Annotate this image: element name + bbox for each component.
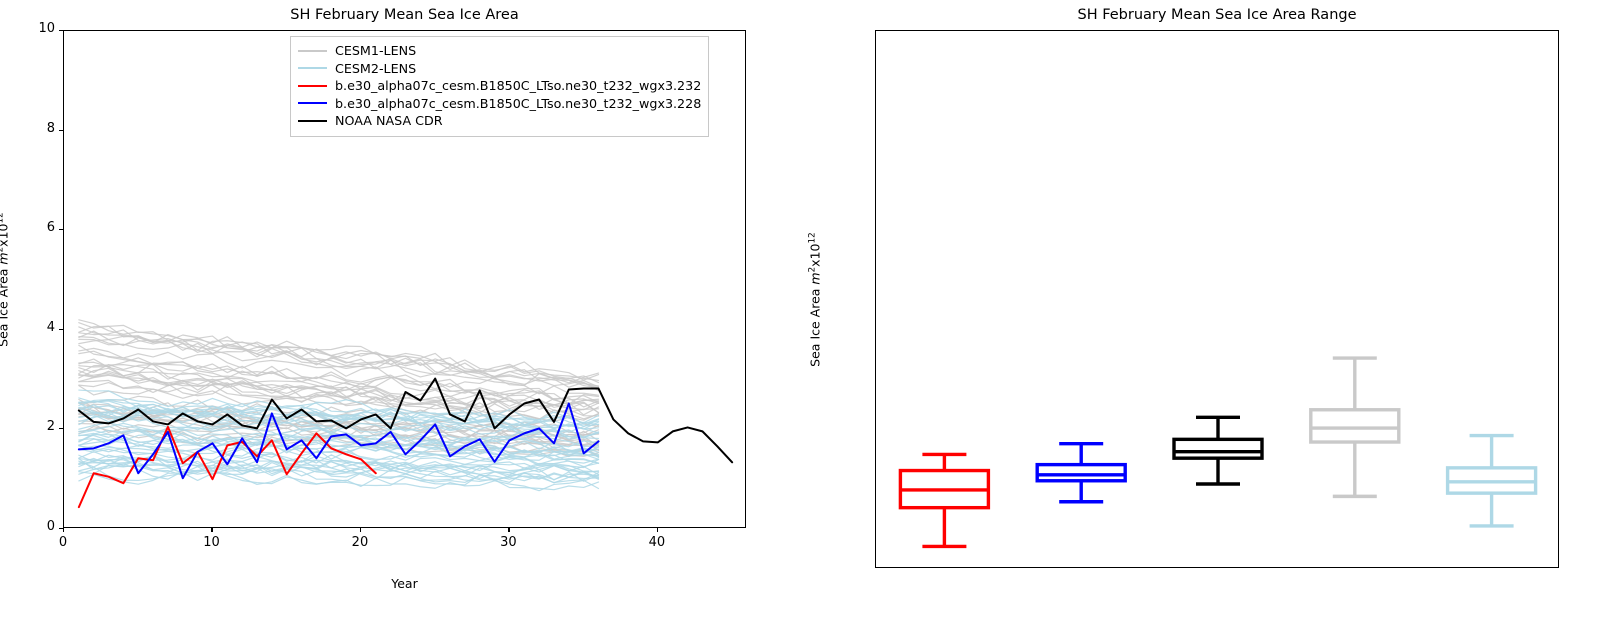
box-iqr — [1037, 465, 1125, 481]
y-axis-label-unit-m-right: m — [808, 272, 823, 284]
x-tick-mark — [63, 528, 64, 532]
panel-sea-ice-area-timeseries: SH February Mean Sea Ice Area 0246810 01… — [0, 0, 810, 622]
y-tick-label: 4 — [23, 320, 55, 335]
x-tick-mark — [657, 528, 658, 532]
legend-item-label: CESM2-LENS — [335, 60, 416, 78]
legend-item[interactable]: CESM1-LENS — [298, 42, 701, 60]
legend-color-swatch — [298, 67, 327, 69]
x-tick-mark — [508, 528, 509, 532]
legend-item[interactable]: b.e30_alpha07c_cesm.B1850C_LTso.ne30_t23… — [298, 95, 701, 113]
boxplot-2[interactable] — [1037, 444, 1125, 502]
boxplot-4[interactable] — [1311, 358, 1399, 496]
y-tick-label: 8 — [23, 121, 55, 136]
boxplot-plot — [876, 31, 1558, 567]
y-axis-label-left: Sea Ice Area m2x1012 — [0, 149, 11, 409]
figure-canvas: SH February Mean Sea Ice Area 0246810 01… — [0, 0, 1621, 622]
panel-sea-ice-area-range: SH February Mean Sea Ice Area Range 0246… — [811, 0, 1621, 622]
legend-item[interactable]: CESM2-LENS — [298, 60, 701, 78]
x-tick-label: 10 — [186, 535, 236, 550]
legend-item[interactable]: NOAA NASA CDR — [298, 112, 701, 130]
legend-color-swatch — [298, 85, 327, 87]
legend-color-swatch — [298, 50, 327, 52]
box-iqr — [1174, 439, 1262, 458]
x-tick-mark — [360, 528, 361, 532]
legend-color-swatch — [298, 120, 327, 122]
y-axis-label-unit-m: m — [0, 252, 11, 264]
legend-item-label: NOAA NASA CDR — [335, 112, 443, 130]
y-axis-label-right: Sea Ice Area m2x1012 — [807, 169, 822, 429]
ensemble-member — [79, 323, 599, 383]
y-axis-label-exp2-right: 12 — [807, 232, 817, 243]
x-tick-mark — [211, 528, 212, 532]
y-axis-label-text: Sea Ice Area — [0, 264, 11, 346]
y-axis-label-exp2: 12 — [0, 212, 5, 223]
y-tick-label: 0 — [23, 519, 55, 534]
y-axis-label-mid-right: x10 — [808, 243, 823, 266]
legend-color-swatch — [298, 102, 327, 104]
legend-item-label: CESM1-LENS — [335, 42, 416, 60]
legend-item[interactable]: b.e30_alpha07c_cesm.B1850C_LTso.ne30_t23… — [298, 77, 701, 95]
page-title: SH February Mean Sea Ice Area — [63, 7, 746, 23]
page-title-right: SH February Mean Sea Ice Area Range — [875, 7, 1559, 23]
x-tick-label: 0 — [38, 535, 88, 550]
y-axis-label-text-right: Sea Ice Area — [808, 284, 823, 366]
x-tick-label: 40 — [632, 535, 682, 550]
x-axis-label-left: Year — [63, 576, 746, 591]
boxplot-1[interactable] — [900, 454, 988, 546]
x-tick-label: 20 — [335, 535, 385, 550]
y-tick-label: 6 — [23, 220, 55, 235]
y-axis-label-exp: 2 — [0, 246, 5, 252]
y-tick-label: 2 — [23, 419, 55, 434]
y-axis-label-exp-right: 2 — [807, 266, 817, 272]
box-iqr — [1311, 410, 1399, 442]
legend-item-label: b.e30_alpha07c_cesm.B1850C_LTso.ne30_t23… — [335, 95, 701, 113]
y-axis-label-mid: x10 — [0, 223, 11, 246]
legend-item-label: b.e30_alpha07c_cesm.B1850C_LTso.ne30_t23… — [335, 77, 701, 95]
boxplot-3[interactable] — [1174, 417, 1262, 484]
legend: CESM1-LENSCESM2-LENSb.e30_alpha07c_cesm.… — [290, 36, 709, 137]
x-tick-label: 30 — [483, 535, 533, 550]
boxplot-5[interactable] — [1448, 436, 1536, 526]
y-tick-label: 10 — [23, 21, 55, 36]
plot-area-right[interactable] — [875, 30, 1559, 568]
